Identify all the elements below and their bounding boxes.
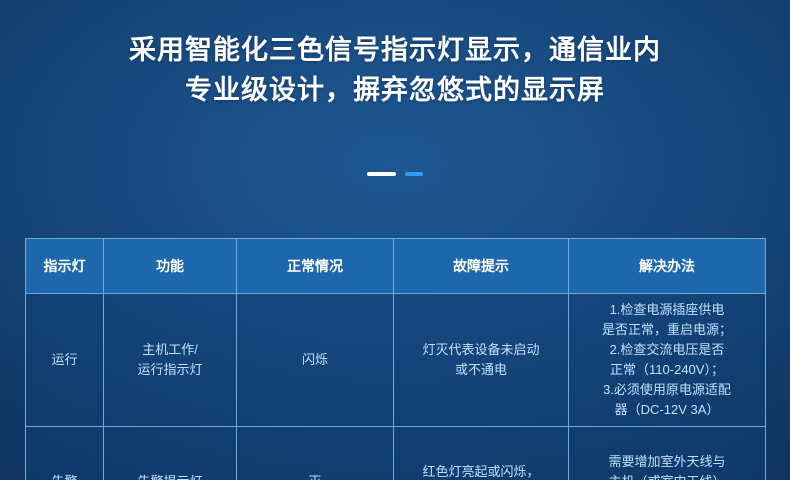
cell-normal: 闪烁 — [237, 294, 394, 427]
table-header-row: 指示灯 功能 正常情况 故障提示 解决办法 — [26, 239, 766, 294]
column-header-solution: 解决办法 — [569, 239, 766, 294]
cell-indicator: 告警 — [26, 427, 104, 480]
table-header: 指示灯 功能 正常情况 故障提示 解决办法 — [26, 239, 766, 294]
table-row: 告警 告警提示灯 灭 红色灯亮起或闪烁， 代表设备出现自激干扰 需要增加室外天线… — [26, 427, 766, 480]
cell-function: 告警提示灯 — [104, 427, 237, 480]
pagination-dot-1[interactable] — [367, 172, 396, 176]
table-row: 运行 主机工作/ 运行指示灯 闪烁 灯灭代表设备未启动 或不通电 1.检查电源插… — [26, 294, 766, 427]
column-header-normal: 正常情况 — [237, 239, 394, 294]
page-title: 采用智能化三色信号指示灯显示，通信业内 专业级设计，摒弃忽悠式的显示屏 — [0, 30, 790, 110]
headline-line-2: 专业级设计，摒弃忽悠式的显示屏 — [0, 70, 790, 110]
table-body: 运行 主机工作/ 运行指示灯 闪烁 灯灭代表设备未启动 或不通电 1.检查电源插… — [26, 294, 766, 480]
column-header-function: 功能 — [104, 239, 237, 294]
cell-solution: 1.检查电源插座供电 是否正常，重启电源； 2.检查交流电压是否 正常（110-… — [569, 294, 766, 427]
headline-line-1: 采用智能化三色信号指示灯显示，通信业内 — [0, 30, 790, 70]
slide-page: 采用智能化三色信号指示灯显示，通信业内 专业级设计，摒弃忽悠式的显示屏 指示灯 … — [0, 0, 790, 480]
indicator-table-wrapper: 指示灯 功能 正常情况 故障提示 解决办法 运行 主机工作/ 运行指示灯 闪烁 … — [25, 238, 765, 480]
cell-indicator: 运行 — [26, 294, 104, 427]
cell-solution: 需要增加室外天线与 主机（或室内天线） 的距离或者调整天线 — [569, 427, 766, 480]
cell-fault: 红色灯亮起或闪烁， 代表设备出现自激干扰 — [394, 427, 569, 480]
cell-function: 主机工作/ 运行指示灯 — [104, 294, 237, 427]
pagination-dots — [0, 172, 790, 176]
cell-normal: 灭 — [237, 427, 394, 480]
pagination-dot-2[interactable] — [405, 172, 423, 176]
indicator-table: 指示灯 功能 正常情况 故障提示 解决办法 运行 主机工作/ 运行指示灯 闪烁 … — [25, 238, 766, 480]
cell-fault: 灯灭代表设备未启动 或不通电 — [394, 294, 569, 427]
column-header-fault: 故障提示 — [394, 239, 569, 294]
column-header-indicator: 指示灯 — [26, 239, 104, 294]
